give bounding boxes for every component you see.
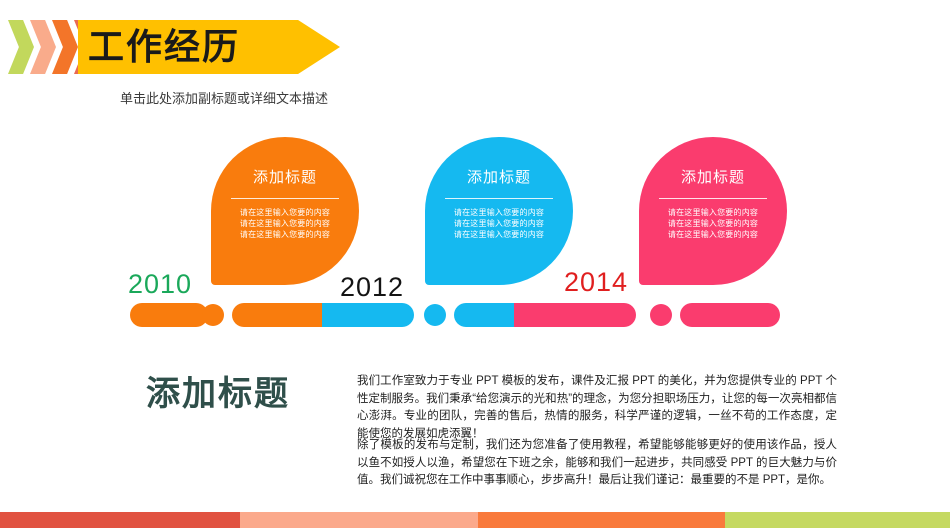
footer-color-strip: [0, 512, 950, 528]
timeline-dot-2[interactable]: [424, 304, 446, 326]
timeline-card-2[interactable]: 添加标题 请在这里输入您要的内容 请在这里输入您要的内容 请在这里输入您要的内容: [425, 137, 573, 285]
body-paragraph-1: 我们工作室致力于专业 PPT 模板的发布，课件及汇报 PPT 的美化，并为您提供…: [357, 373, 837, 443]
timeline-card-2-line-1: 请在这里输入您要的内容: [439, 207, 559, 218]
bottom-section-title: 添加标题: [146, 366, 290, 415]
timeline-dot-1[interactable]: [202, 304, 224, 326]
timeline-segment-4[interactable]: [680, 303, 780, 327]
timeline-segment-3[interactable]: [454, 303, 636, 327]
timeline-card-1-line-1: 请在这里输入您要的内容: [225, 207, 345, 218]
footer-segment-red: [0, 512, 240, 528]
timeline-card-1-line-2: 请在这里输入您要的内容: [225, 218, 345, 229]
footer-segment-peach: [240, 512, 478, 528]
title-arrow-banner: 工作经历: [78, 20, 340, 74]
timeline-card-3-line-3: 请在这里输入您要的内容: [653, 229, 773, 240]
timeline-card-2-line-3: 请在这里输入您要的内容: [439, 229, 559, 240]
timeline-card-1-divider: [231, 198, 339, 199]
timeline-card-2-divider: [445, 198, 553, 199]
page-title: 工作经历: [88, 21, 240, 73]
timeline-card-1-line-3: 请在这里输入您要的内容: [225, 229, 345, 240]
timeline-card-2-title: 添加标题: [439, 167, 559, 189]
timeline-card-1-title: 添加标题: [225, 167, 345, 189]
body-paragraph-2: 除了模板的发布与定制，我们还为您准备了使用教程，希望能够能够更好的使用该作品，授…: [357, 437, 837, 490]
timeline-bar: [0, 303, 950, 327]
chevron-1-icon: [8, 20, 34, 74]
page-subtitle: 单击此处添加副标题或详细文本描述: [120, 88, 328, 107]
year-label-2014: 2014: [564, 267, 628, 298]
timeline-card-3-line-1: 请在这里输入您要的内容: [653, 207, 773, 218]
footer-segment-orange: [478, 512, 725, 528]
timeline-segment-1[interactable]: [130, 303, 208, 327]
timeline-segment-3-fill-left: [454, 303, 514, 327]
timeline-card-3-title: 添加标题: [653, 167, 773, 189]
year-label-2010: 2010: [128, 269, 192, 300]
timeline-card-1[interactable]: 添加标题 请在这里输入您要的内容 请在这里输入您要的内容 请在这里输入您要的内容: [211, 137, 359, 285]
year-label-2012: 2012: [340, 272, 404, 303]
timeline-segment-2-fill-right: [322, 303, 414, 327]
timeline-card-3-line-2: 请在这里输入您要的内容: [653, 218, 773, 229]
timeline-card-2-line-2: 请在这里输入您要的内容: [439, 218, 559, 229]
timeline-segment-3-fill-right: [514, 303, 636, 327]
timeline-card-3-divider: [659, 198, 767, 199]
footer-segment-green: [725, 512, 950, 528]
timeline-segment-2-fill-left: [232, 303, 322, 327]
timeline-segment-1-fill: [130, 303, 208, 327]
timeline-dot-3[interactable]: [650, 304, 672, 326]
timeline-segment-2[interactable]: [232, 303, 414, 327]
timeline-segment-4-fill: [680, 303, 780, 327]
timeline-card-3[interactable]: 添加标题 请在这里输入您要的内容 请在这里输入您要的内容 请在这里输入您要的内容: [639, 137, 787, 285]
